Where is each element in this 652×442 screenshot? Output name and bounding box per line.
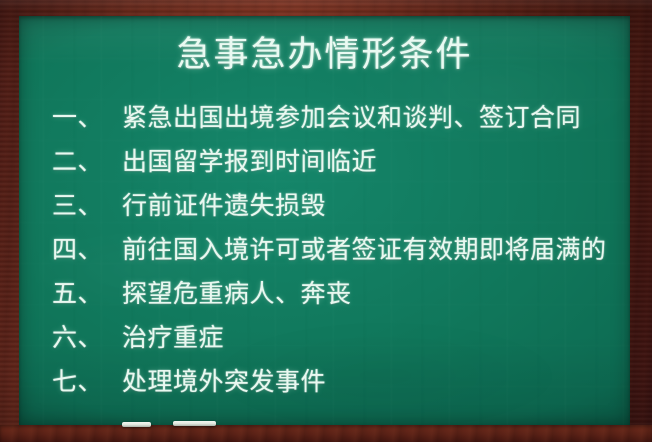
condition-list: 一、 紧急出国出境参加会议和谈判、签订合同 二、 出国留学报到时间临近 三、 行…	[52, 96, 622, 404]
list-item: 四、 前往国入境许可或者签证有效期即将届满的	[52, 228, 622, 272]
chalk-stick-1	[122, 422, 151, 427]
list-item-text: 治疗重症	[122, 316, 622, 360]
list-item-text: 前往国入境许可或者签证有效期即将届满的	[122, 228, 622, 272]
list-item-index: 四、	[52, 228, 122, 272]
list-item-index: 七、	[52, 360, 122, 404]
list-item-index: 六、	[52, 316, 122, 360]
list-item-text: 探望危重病人、奔丧	[122, 272, 622, 316]
chalk-stick-2	[173, 421, 216, 426]
chalkboard-screenshot: 急事急办情形条件 一、 紧急出国出境参加会议和谈判、签订合同 二、 出国留学报到…	[0, 0, 652, 442]
list-item-text: 处理境外突发事件	[122, 360, 622, 404]
chalk-ledge	[0, 425, 652, 442]
list-item: 二、 出国留学报到时间临近	[52, 140, 622, 184]
list-item: 五、 探望危重病人、奔丧	[52, 272, 622, 316]
board-content: 急事急办情形条件 一、 紧急出国出境参加会议和谈判、签订合同 二、 出国留学报到…	[19, 16, 630, 425]
list-item-text: 出国留学报到时间临近	[122, 140, 622, 184]
list-item-text: 紧急出国出境参加会议和谈判、签订合同	[122, 96, 622, 140]
list-item: 三、 行前证件遗失损毁	[52, 184, 622, 228]
board-title: 急事急办情形条件	[19, 33, 630, 77]
list-item: 七、 处理境外突发事件	[52, 360, 622, 404]
list-item-index: 五、	[52, 272, 122, 316]
list-item: 一、 紧急出国出境参加会议和谈判、签订合同	[52, 96, 622, 140]
list-item: 六、 治疗重症	[52, 316, 622, 360]
list-item-index: 一、	[52, 96, 122, 140]
chalkboard-surface: 急事急办情形条件 一、 紧急出国出境参加会议和谈判、签订合同 二、 出国留学报到…	[19, 16, 630, 425]
list-item-text: 行前证件遗失损毁	[122, 184, 622, 228]
list-item-index: 三、	[52, 184, 122, 228]
list-item-index: 二、	[52, 140, 122, 184]
